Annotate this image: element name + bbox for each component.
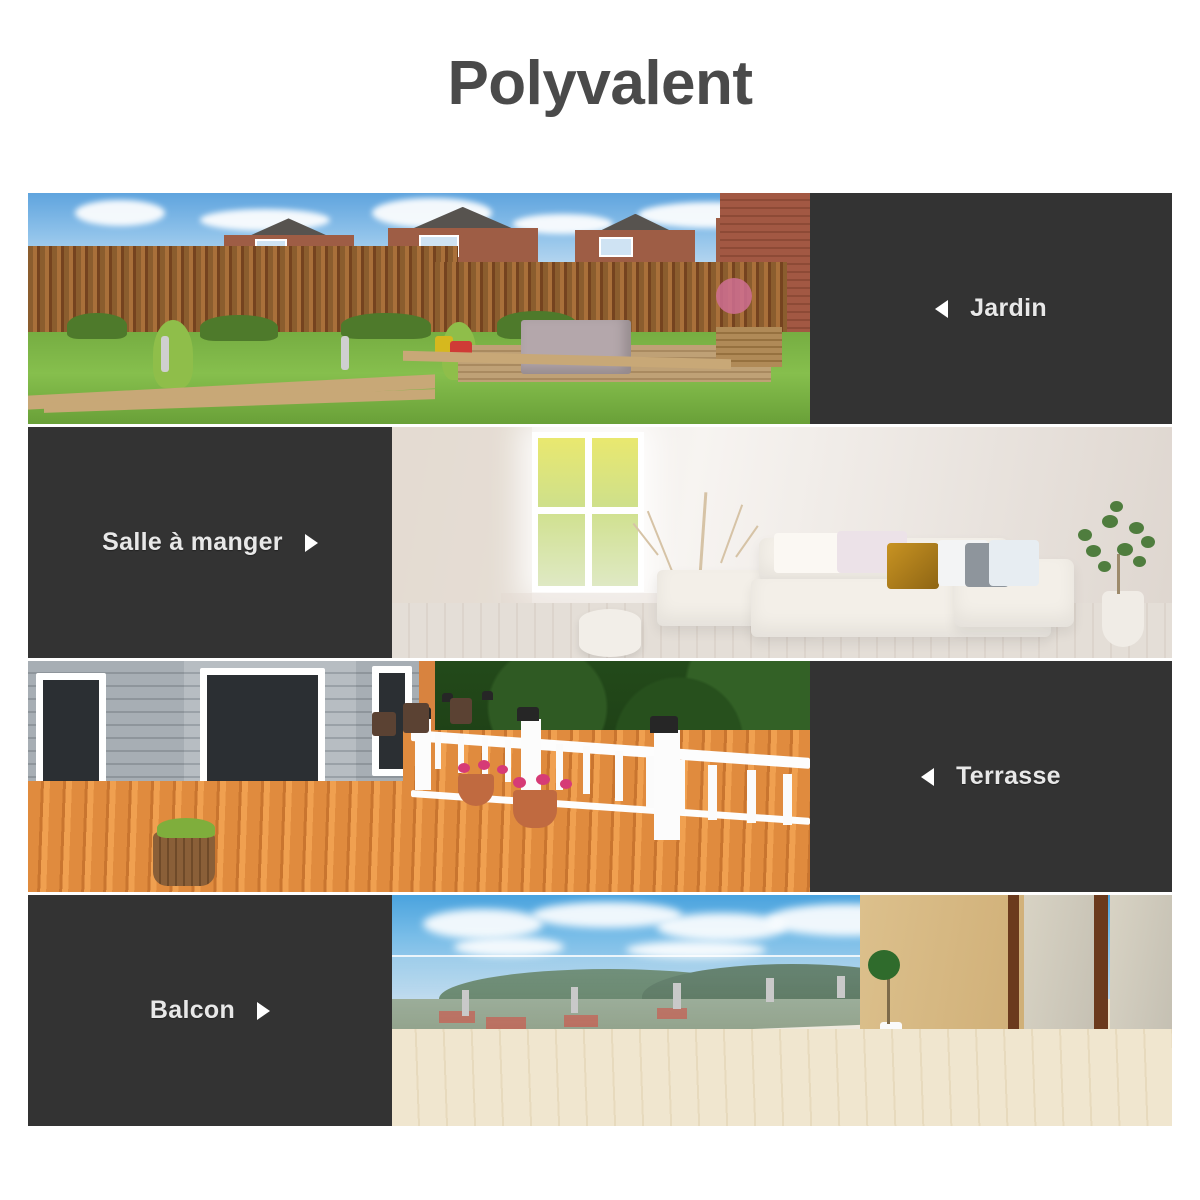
feature-row-balcon[interactable]: Balcon — [28, 895, 1172, 1126]
label-panel-jardin[interactable]: Jardin — [810, 193, 1172, 424]
terrace-photo — [28, 661, 810, 892]
balcony-photo — [392, 895, 1172, 1126]
triangle-right-icon — [305, 534, 318, 552]
feature-rows: Jardin — [28, 193, 1172, 1129]
label-panel-balcon[interactable]: Balcon — [28, 895, 392, 1126]
triangle-right-icon — [257, 1002, 270, 1020]
feature-row-salle-a-manger[interactable]: Salle à manger — [28, 427, 1172, 658]
triangle-left-icon — [921, 768, 934, 786]
label-panel-terrasse[interactable]: Terrasse — [810, 661, 1172, 892]
feature-row-jardin[interactable]: Jardin — [28, 193, 1172, 424]
garden-photo — [28, 193, 810, 424]
row-label-terrasse: Terrasse — [956, 762, 1061, 791]
row-label-jardin: Jardin — [970, 294, 1047, 323]
label-panel-salle-a-manger[interactable]: Salle à manger — [28, 427, 392, 658]
feature-row-terrasse[interactable]: Terrasse — [28, 661, 1172, 892]
page-title: Polyvalent — [0, 48, 1200, 119]
row-label-salle-a-manger: Salle à manger — [102, 528, 283, 557]
row-label-balcon: Balcon — [150, 996, 235, 1025]
polyvalent-page: Polyvalent — [0, 0, 1200, 1200]
living-room-photo — [392, 427, 1172, 658]
triangle-left-icon — [935, 300, 948, 318]
